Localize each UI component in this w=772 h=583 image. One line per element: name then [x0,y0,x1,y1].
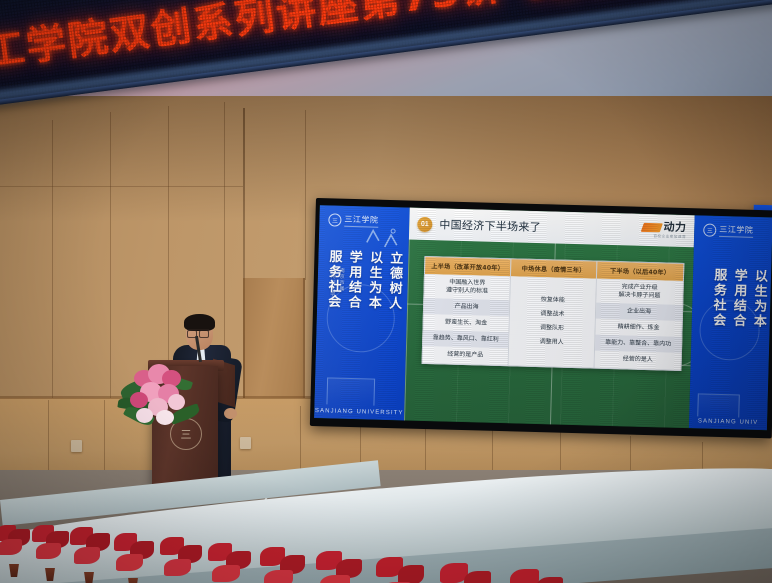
flower-petal [156,410,174,425]
table-column-first-half: 上半场（改革开放40年） 中国融入世界 遵守别人的标准 产品出海 野蛮生长、淘金… [423,257,512,365]
poinsettia-bloom [36,543,61,559]
slide-left-blue-panel: 三 三江学院 南京市属 应用型大学 立德树人 以生为本 学用结合 服务社会 [314,205,410,420]
poinsettia-plant [156,537,204,583]
campus-sketch [326,377,375,405]
flower-arrangement [118,352,206,434]
motto-columns-right: 以生为本 学用结合 服务社会 [710,268,768,329]
poinsettia-plant [436,563,492,583]
poinsettia-plant [204,543,252,583]
slide-title: 中国经济下半场来了 [439,216,541,235]
poinsettia-bloom [116,554,143,571]
table-cell: 中国融入世界 遵守别人的标准 [424,274,510,300]
screen-content: 三 三江学院 南京市属 应用型大学 立德树人 以生为本 学用结合 服务社会 [314,205,772,430]
poinsettia-bloom [536,577,563,583]
campus-sketch [697,393,740,417]
flower-petal [136,408,153,423]
flower-pot [127,578,140,583]
poinsettia-bloom [164,559,191,576]
sponsor-logo-name: 动力 [663,222,686,234]
sponsor-logo: 动力 百校企业家加速营 [642,222,686,240]
poinsettia-bloom [264,570,293,583]
speaker-hand [224,408,237,419]
poinsettia-bloom [464,571,491,583]
table-column-halftime: 中场休息（疫情三年） 恢复体能 调整战术 调整队形 调整用人 [509,259,598,367]
university-footer-text: SANJIANG UNIV [689,418,767,426]
table-spacer [509,349,594,367]
flower-petal [168,394,185,410]
slide-body: 01 中国经济下半场来了 动力 百校企业家加速营 上半场（改革开放40年） 中国… [404,208,695,429]
flower-pot [44,568,57,581]
table-cell: 经营的是人 [595,351,681,369]
motto-col-0: 立德树人 [386,251,403,311]
poinsettia-bloom [398,565,424,583]
motto-col-2: 学用结合 [345,250,362,310]
glasses-icon [187,329,209,336]
university-seal-icon: 三 [703,223,716,236]
poinsettia-bloom [0,539,22,555]
table-column-second-half: 下半场（以后40年） 完成产业升级 解决卡脖子问题 企业出海 精耕细作、炼金 靠… [595,262,684,370]
lecture-hall-photo: 工学院双创系列讲座第73讲《合伙创业》—主讲嘉宾：郜铖 三 三江学院 南京市属 [0,0,772,583]
poinsettia-bloom [212,565,240,582]
poinsettia-bloom [510,569,539,583]
slide-right-blue-panel: 三 三江学院 以生为本 学用结合 服务社会 SANJIANG UNIV [689,215,772,430]
flower-pot [8,564,21,577]
table-cell: 完成产业升级 解决卡脖子问题 [596,279,683,306]
university-footer-text: SANJIANG UNIVERSITY [314,408,404,416]
poinsettia-bloom [74,547,100,564]
university-logo-text: 三江学院 [719,224,753,238]
sponsor-logo-subtitle: 百校企业家加速营 [653,235,686,239]
poinsettia-plant [372,557,426,583]
flower-pot [83,572,96,583]
flower-petal [130,392,148,408]
sponsor-logo-main: 动力 [642,222,686,234]
slide-header: 01 中国经济下半场来了 动力 百校企业家加速营 [409,208,695,248]
poinsettia-plant [66,527,112,583]
motto-col-2: 服务社会 [710,268,727,328]
slide-table: 上半场（改革开放40年） 中国融入世界 遵守别人的标准 产品出海 野蛮生长、淘金… [422,256,685,371]
university-logo-right: 三 三江学院 [703,223,753,237]
poinsettia-plant [110,533,156,583]
motto-col-1: 以生为本 [365,250,382,310]
table-cell: 经营的是产品 [423,346,508,364]
main-led-screen: 三 三江学院 南京市属 应用型大学 立德树人 以生为本 学用结合 服务社会 [310,198,772,438]
university-seal-icon: 三 [328,213,341,226]
slide-badge: 01 [417,216,432,231]
poinsettia-plant [506,569,564,583]
sponsor-mark-icon [641,223,663,232]
motto-col-3: 服务社会 [325,249,342,309]
poinsettia-plant [312,551,364,583]
poinsettia-bloom [320,575,350,583]
motto-columns: 立德树人 以生为本 学用结合 服务社会 [325,249,403,311]
poinsettia-plant [256,547,306,583]
motto-col-0: 以生为本 [750,269,767,329]
motto-col-1: 学用结合 [730,268,747,328]
